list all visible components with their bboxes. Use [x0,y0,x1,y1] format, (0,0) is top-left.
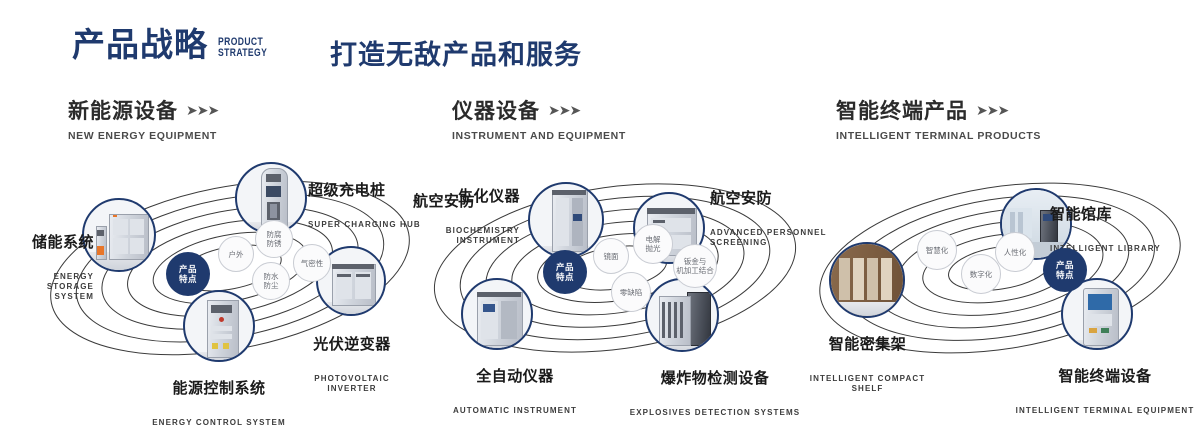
label-energy-control: 能源控制系统 ENERGY CONTROL SYSTEM [90,362,348,446]
biochemistry-photo [530,184,602,256]
label-compact-shelf: 智能密集架 INTELLIGENT COMPACT SHELF [800,318,935,412]
automatic-instrument-photo [463,280,531,348]
label-en: BIOCHEMISTRY INSTRUMENT [405,226,520,246]
label-cn: 全自动仪器 [420,368,610,386]
explosives-detection-photo [647,280,717,350]
cluster-instrument: 生化仪器 BIOCHEMISTRY INSTRUMENT 航空安防 航空安防 A… [425,150,805,380]
label-cn: 爆炸物检测设备 [615,370,815,388]
feature-bubble-mirror[interactable]: 镜面 [593,238,629,274]
section-title-cn: 新能源设备 [68,95,178,125]
feature-bubble-outdoor[interactable]: 户外 [218,236,254,272]
node-circle-explosives-detection[interactable] [645,278,719,352]
section-title-intelligent: 智能终端产品➤➤➤ INTELLIGENT TERMINAL PRODUCTS [836,95,1041,142]
label-energy-storage: 储能系统 ENERGY STORAGE SYSTEM [12,216,94,320]
feature-bubble-humanized[interactable]: 人性化 [995,232,1035,272]
feature-bubble-intelligent[interactable]: 智慧化 [917,230,957,270]
label-cn: 储能系统 [12,234,94,252]
section-title-new-energy: 新能源设备➤➤➤ NEW ENERGY EQUIPMENT [68,95,218,142]
cluster-intelligent-terminal: 智能馆库 INTELLIGENT LIBRARY 智能密集架 INTELLIGE… [805,150,1195,380]
section-title-cn: 智能终端产品 [836,95,968,125]
energy-control-photo [185,292,253,360]
product-feature-badge[interactable]: 产品 特点 [1043,248,1087,292]
cluster-new-energy: 储能系统 ENERGY STORAGE SYSTEM 超级充电桩 SUPER C… [40,150,420,380]
node-circle-energy-control[interactable] [183,290,255,362]
section-title-instrument: 仪器设备➤➤➤ INSTRUMENT AND EQUIPMENT [452,95,626,142]
section-title-cn: 仪器设备 [452,95,540,125]
label-en: ENERGY STORAGE SYSTEM [12,272,94,302]
label-explosives-detection: 爆炸物检测设备 EXPLOSIVES DETECTION SYSTEMS [615,352,815,436]
section-title-en: NEW ENERGY EQUIPMENT [68,130,218,142]
label-en: ENERGY CONTROL SYSTEM [90,418,348,428]
feature-bubble-airtight[interactable]: 气密性 [293,244,331,282]
product-feature-badge[interactable]: 产品 特点 [543,250,587,294]
section-title-en: INTELLIGENT TERMINAL PRODUCTS [836,130,1041,142]
compact-shelf-photo [831,244,903,316]
page-subtitle: 打造无敌产品和服务 [330,33,582,72]
label-cn: 智能馆库 [1050,206,1190,224]
label-en: INTELLIGENT TERMINAL EQUIPMENT [1015,406,1195,416]
label-terminal-equipment: 智能终端设备 INTELLIGENT TERMINAL EQUIPMENT [1015,350,1195,434]
node-circle-biochemistry-instrument[interactable] [528,182,604,258]
feature-bubble-anticorrosion[interactable]: 防腐 防锈 [255,220,293,258]
chevrons-icon: ➤➤➤ [186,102,218,119]
label-automatic-instrument: 全自动仪器 AUTOMATIC INSTRUMENT [420,350,610,434]
feature-bubble-waterproof[interactable]: 防水 防尘 [252,262,290,300]
infographic-canvas: 产品战略 PRODUCT STRATEGY 打造无敌产品和服务 新能源设备➤➤➤… [0,0,1200,422]
label-cn: 智能密集架 [800,336,935,354]
section-title-en: INSTRUMENT AND EQUIPMENT [452,130,626,142]
page-title-cn: 产品战略 [72,28,208,61]
label-en: AUTOMATIC INSTRUMENT [420,406,610,416]
label-cn: 能源控制系统 [90,380,348,398]
chevrons-icon: ➤➤➤ [548,102,580,119]
node-circle-compact-shelf[interactable] [829,242,905,318]
page-title-en: PRODUCT STRATEGY [218,37,267,59]
label-en: INTELLIGENT COMPACT SHELF [800,374,935,394]
node-circle-automatic-instrument[interactable] [461,278,533,350]
chevrons-icon: ➤➤➤ [976,102,1008,119]
label-cn: 光伏逆变器 [292,336,412,354]
feature-bubble-electropolishing[interactable]: 电解 抛光 [633,224,673,264]
label-en: EXPLOSIVES DETECTION SYSTEMS [615,408,815,418]
page-header: 产品战略 PRODUCT STRATEGY [72,28,281,61]
energy-storage-photo [84,200,154,270]
product-feature-badge[interactable]: 产品 特点 [166,252,210,296]
label-cn: 航空安防 [390,193,475,211]
feature-bubble-digital[interactable]: 数字化 [961,254,1001,294]
label-aviation-security-left: 航空安防 [390,175,475,229]
label-cn: 智能终端设备 [1015,368,1195,386]
feature-bubble-sheetmetal-machining[interactable]: 钣金与 机加工结合 [673,244,717,288]
feature-bubble-zero-defect[interactable]: 零缺陷 [611,272,651,312]
